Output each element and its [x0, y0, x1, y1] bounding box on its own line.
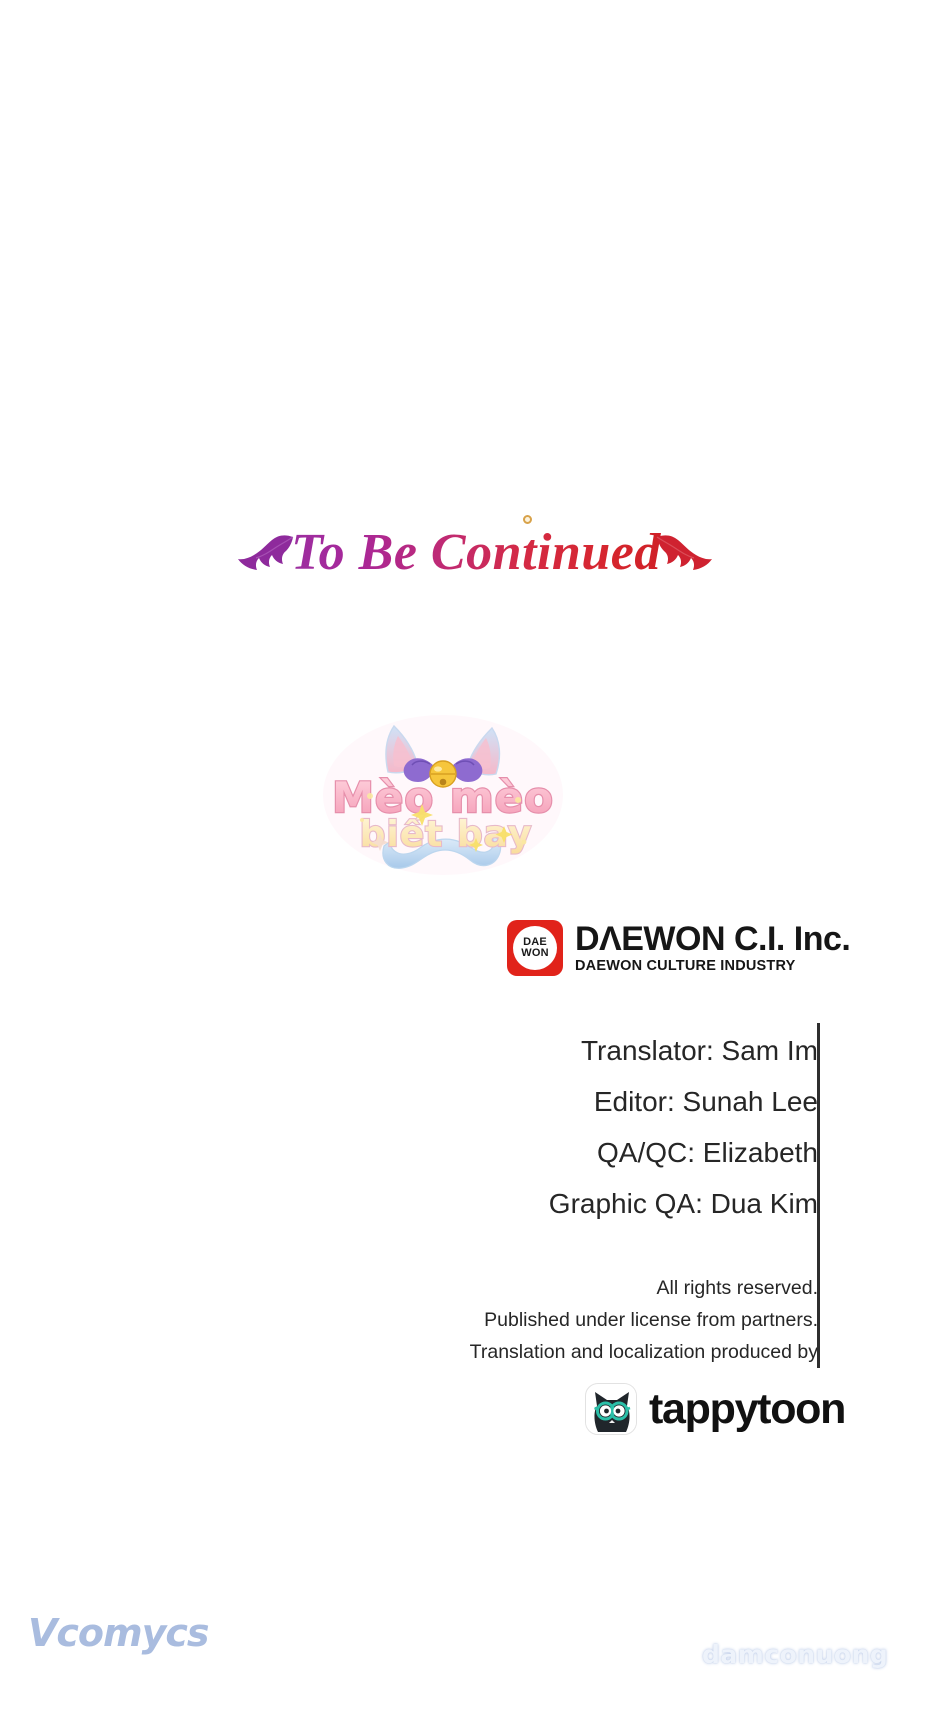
rights-block: All rights reserved. Published under lic…	[178, 1272, 818, 1368]
rights-line-reserved: All rights reserved.	[178, 1272, 818, 1304]
daewon-mark-line2: WON	[521, 948, 548, 959]
watermark-damconuong: damconuong	[702, 1640, 888, 1669]
credit-translator: Translator: Sam Im	[298, 1025, 818, 1076]
credits-block: Translator: Sam Im Editor: Sunah Lee QA/…	[298, 1025, 818, 1229]
rights-line-localization: Translation and localization produced by	[178, 1336, 818, 1368]
bat-wing-right-icon	[655, 529, 713, 580]
series-logo: Mèo mèo biết bay	[318, 700, 568, 885]
rights-line-license: Published under license from partners.	[178, 1304, 818, 1336]
comic-endpage: To Be Continued	[0, 0, 950, 1711]
publisher-subtitle: DAEWON CULTURE INDUSTRY	[575, 958, 850, 974]
publisher-logo: DAE WON DΛEWON C.I. Inc. DAEWON CULTURE …	[507, 920, 850, 976]
daewon-mark-icon: DAE WON	[507, 920, 563, 976]
publisher-name: DΛEWON C.I. Inc.	[575, 922, 850, 956]
to-be-continued-text: To Be Continued	[287, 523, 665, 582]
watermark-vcomycs: Vcomycs	[28, 1611, 209, 1655]
tappytoon-wordmark: tappytoon	[649, 1388, 845, 1431]
tappytoon-logo[interactable]: tappytoon	[585, 1383, 845, 1435]
tappytoon-cat-glasses-icon	[585, 1383, 637, 1435]
credit-editor: Editor: Sunah Lee	[298, 1076, 818, 1127]
credit-qa-qc: QA/QC: Elizabeth	[298, 1127, 818, 1178]
to-be-continued-banner: To Be Continued	[0, 512, 950, 592]
to-be-continued-dot-ornament	[523, 515, 532, 524]
credits-divider	[817, 1023, 820, 1368]
credit-graphic-qa: Graphic QA: Dua Kim	[298, 1178, 818, 1229]
